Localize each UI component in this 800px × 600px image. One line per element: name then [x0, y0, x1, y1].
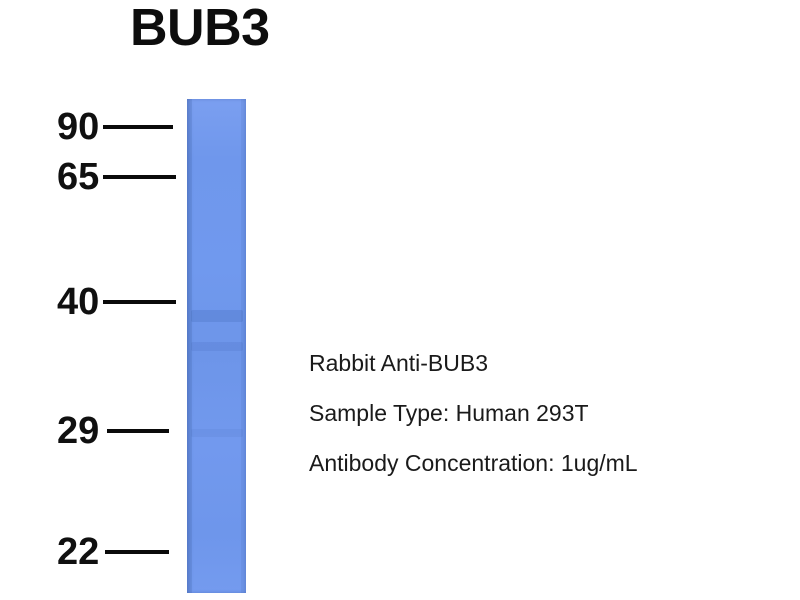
protein-band-29 — [191, 429, 243, 437]
western-blot-figure: BUB3 90 65 40 29 22 Rabbit Anti- — [0, 0, 800, 600]
marker-65: 65 — [57, 157, 186, 197]
marker-tick-90 — [103, 125, 173, 129]
marker-tick-29 — [107, 429, 169, 433]
marker-label-22: 22 — [57, 533, 99, 571]
experiment-details: Rabbit Anti-BUB3 Sample Type: Human 293T… — [309, 338, 779, 488]
sample-type-line: Sample Type: Human 293T — [309, 388, 779, 438]
marker-40: 40 — [57, 282, 186, 322]
protein-band-34 — [191, 342, 243, 351]
marker-label-65: 65 — [57, 158, 99, 196]
antibody-line: Rabbit Anti-BUB3 — [309, 338, 779, 388]
marker-22: 22 — [57, 532, 186, 572]
marker-label-90: 90 — [57, 108, 99, 146]
marker-tick-65 — [103, 175, 176, 179]
antibody-concentration-line: Antibody Concentration: 1ug/mL — [309, 438, 779, 488]
marker-label-29: 29 — [57, 412, 99, 450]
marker-29: 29 — [57, 411, 186, 451]
marker-90: 90 — [57, 107, 186, 147]
marker-tick-40 — [103, 300, 176, 304]
page-title: BUB3 — [130, 2, 270, 54]
sample-lane — [187, 99, 246, 593]
marker-label-40: 40 — [57, 283, 99, 321]
protein-band-40 — [191, 310, 243, 322]
marker-tick-22 — [105, 550, 169, 554]
